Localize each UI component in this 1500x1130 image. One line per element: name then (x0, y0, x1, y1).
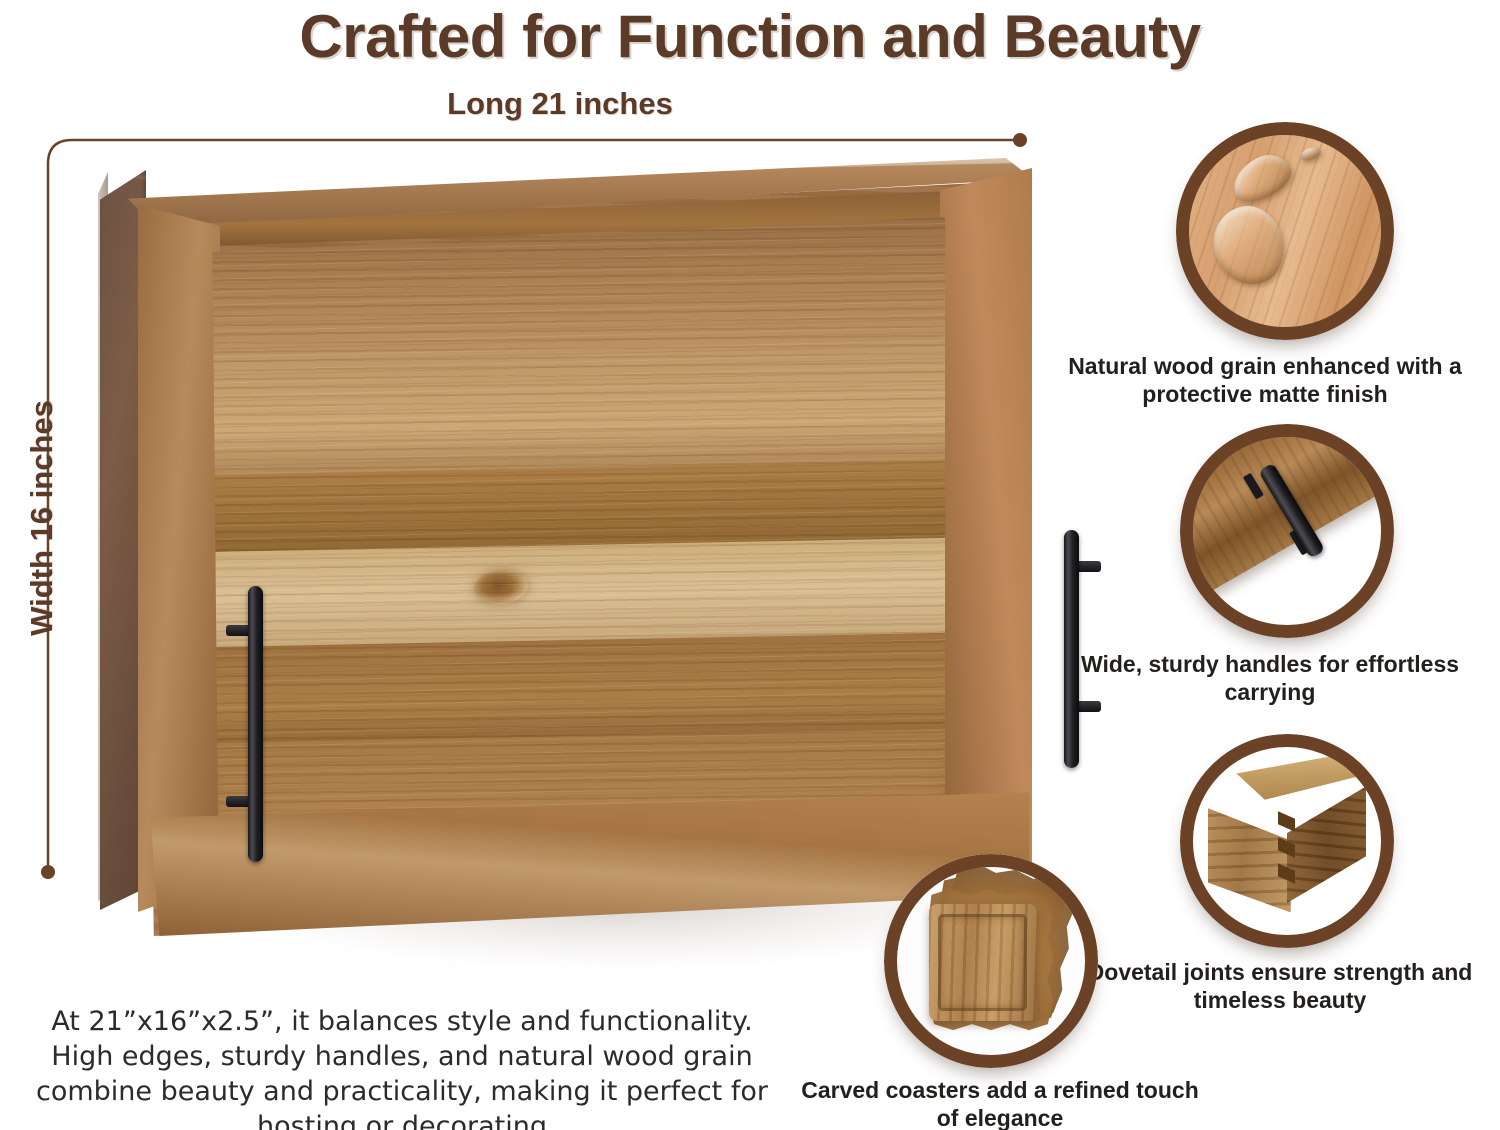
feature-circle-matte-finish (1176, 122, 1394, 340)
circle-photo (1193, 747, 1381, 935)
feature-circle-dovetail (1180, 734, 1394, 948)
feature-caption-dovetail: Dovetail joints ensure strength and time… (1060, 958, 1500, 1014)
handle-bar (248, 586, 263, 862)
feature-circle-coasters (884, 854, 1098, 1068)
wood-grain-texture (208, 214, 948, 850)
length-dimension-label: Long 21 inches (330, 86, 790, 122)
circle-photo (1189, 135, 1381, 327)
page-title: Crafted for Function and Beauty (0, 2, 1500, 71)
circle-photo (897, 867, 1085, 1055)
circle-photo (1193, 437, 1381, 625)
black-bar-handle-icon (1180, 424, 1394, 638)
product-image-tray (98, 148, 1048, 968)
tray-inner-surface (208, 214, 948, 850)
dovetail-corner-icon (1180, 734, 1394, 948)
tray-left-wall (138, 190, 220, 912)
handle-bar (1064, 530, 1079, 768)
coaster-stack (923, 886, 1058, 1036)
stacked-square-coasters-icon (884, 854, 1098, 1068)
coaster-top (929, 904, 1037, 1021)
infographic-page: Crafted for Function and Beauty Long 21 … (0, 0, 1500, 1130)
feature-circle-handles (1180, 424, 1394, 638)
feature-caption-handles: Wide, sturdy handles for effortless carr… (1045, 650, 1495, 706)
product-description: At 21”x16”x2.5”, it balances style and f… (22, 1004, 782, 1130)
tray-handle-left (248, 586, 263, 862)
width-dimension-label: Width 16 inches (24, 388, 60, 648)
feature-caption-coasters: Carved coasters add a refined touch of e… (790, 1076, 1210, 1130)
water-droplets-on-wood-icon (1176, 122, 1394, 340)
tray-handle-right (1064, 530, 1079, 768)
feature-caption-matte-finish: Natural wood grain enhanced with a prote… (1030, 352, 1500, 408)
tray-body (98, 148, 1048, 948)
